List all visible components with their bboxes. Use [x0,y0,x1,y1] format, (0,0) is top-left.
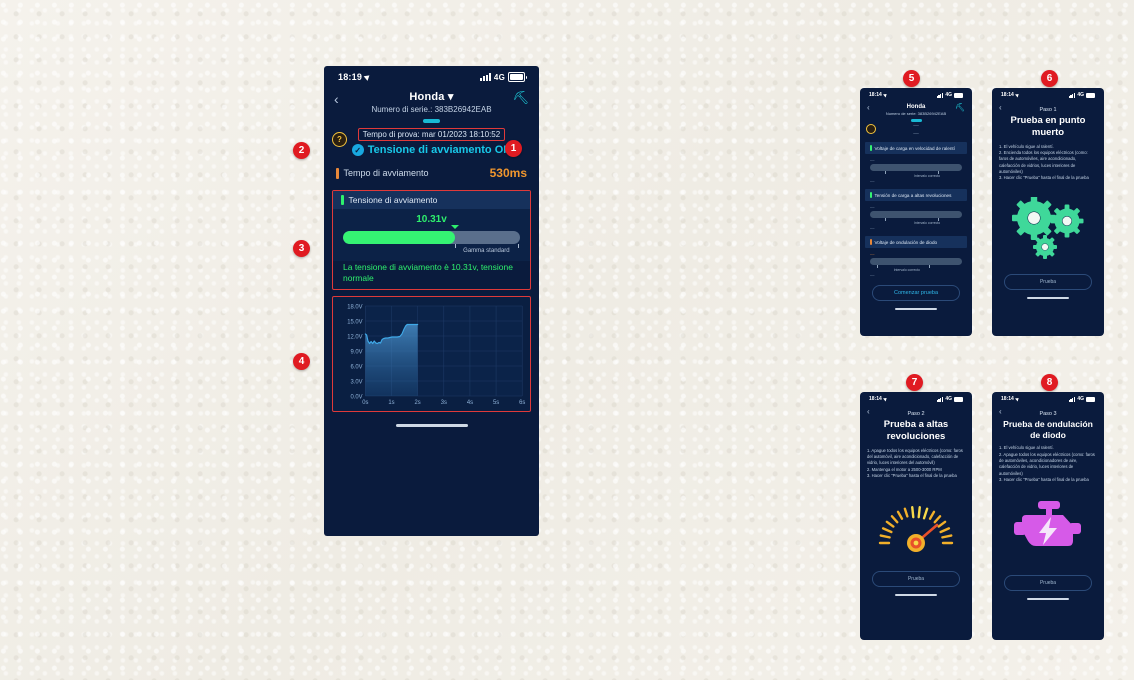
app-header: ‹ ⛏ Honda ▾ Numero di serie.: 383B26942E… [324,88,539,123]
marker-2: 2 [293,142,310,159]
svg-text:2s: 2s [415,400,421,406]
section-idle-voltage: Voltaje de carga en velocidad de ralentí… [865,142,967,185]
step-header: ‹ Paso 1 [992,102,1104,113]
green-accent-bar [341,195,344,205]
svg-text:0s: 0s [362,400,368,406]
status-time: 18:14 [1001,396,1014,402]
marker-1: 1 [505,140,522,157]
svg-text:6s: 6s [519,400,525,406]
range-label: Gamma standard [463,248,509,254]
signal-bars-icon [937,397,944,402]
marker-6: 6 [1041,70,1058,87]
chevron-down-icon: ▾ [448,91,454,103]
status-bar: 18:14 4G [992,392,1104,406]
voltage-chart: 0.0V3.0V6.0V9.0V12.0V15.0V18.0V0s1s2s3s4… [337,301,526,409]
engine-icon [992,483,1104,575]
orange-accent-bar [336,168,339,179]
section-diode-ripple: Voltaje de ondulación de diodo ‒‒ Interv… [865,236,967,279]
svg-text:4s: 4s [467,400,473,406]
test-button[interactable]: Prueba [872,571,960,587]
main-phone-screen: 18:19 4G ‹ ⛏ Honda ▾ Numero di serie.: 3… [324,66,539,536]
signal-bars-icon [480,73,491,81]
network-label: 4G [494,73,505,82]
range-bar [870,258,962,265]
start-time-value: 530ms [490,166,527,180]
gears-icon [992,182,1104,274]
range-ticks: Intervalo correcto [870,171,962,178]
step-header: ‹ Paso 2 [860,406,972,417]
bluetooth-icon[interactable]: ⛏ [512,91,529,104]
value-placeholder: ‒‒ [870,251,962,256]
status-time: 18:14 [1001,92,1014,98]
battery-icon [954,397,963,402]
test-button[interactable]: Prueba [1004,575,1092,591]
voltage-value: 10.31v [343,214,520,225]
location-arrow-icon [1015,93,1020,98]
range-label: Intervalo correcto [914,221,940,225]
small-phone-results: 18:14 4G ‹ ⛏ Honda Numero de serie: 383B… [860,88,972,336]
step-label: Paso 1 [992,107,1104,113]
status-time: 18:14 [869,396,882,402]
home-indicator [895,308,937,310]
orange-accent-bar [870,239,872,245]
battery-icon [1086,397,1095,402]
back-icon[interactable]: ‹ [334,92,339,106]
help-icon[interactable] [866,124,876,134]
tachometer-illustration [875,497,957,553]
section-header: Voltaje de carga en velocidad de ralentí [865,142,967,154]
step-label: Paso 2 [860,411,972,417]
value-placeholder: ‒‒ [870,272,962,277]
home-indicator [1027,598,1069,600]
status-bar: 18:14 4G [860,392,972,406]
green-accent-bar [870,145,872,151]
voltage-bar-track [343,231,520,244]
tachometer-icon [860,479,972,571]
voltage-range-ticks: Gamma standard [343,244,520,255]
placeholder-lines: ‒‒‒‒ [860,122,972,138]
drag-handle[interactable] [423,119,440,123]
svg-text:9.0V: 9.0V [350,349,362,355]
svg-text:3s: 3s [441,400,447,406]
start-time-label: Tempo di avviamento [344,168,429,178]
voltage-pointer-icon [451,225,459,229]
voltage-verdict: La tensione di avviamento è 10.31v, tens… [333,261,530,289]
section-title: Voltaje de carga en velocidad de ralentí [875,146,955,151]
network-label: 4G [945,92,952,98]
range-label: Intervalo correcto [914,174,940,178]
svg-text:18.0V: 18.0V [347,304,362,310]
back-icon[interactable]: ‹ [999,103,1002,112]
help-icon[interactable]: ? [332,132,347,147]
marker-7: 7 [906,374,923,391]
step-instructions: 1. El vehículo sigue al ralentí. 2. Enci… [992,139,1104,182]
step-heading: Prueba de ondulación de diodo [992,419,1104,440]
value-placeholder: ‒‒ [870,204,962,209]
status-badge: ✓ Tensione di avviamento OK [334,144,529,156]
engine-illustration [1011,499,1085,559]
section-body: ‒‒ Intervalo correcto ‒‒ [865,248,967,279]
test-button[interactable]: Prueba [1004,274,1092,290]
marker-8: 8 [1041,374,1058,391]
home-indicator [1027,297,1069,299]
green-accent-bar [870,192,872,198]
value-placeholder: ‒‒ [870,225,962,230]
section-title: Voltaje de ondulación de diodo [875,240,938,245]
voltage-card-title: Tensione di avviamento [349,195,438,205]
step-heading: Prueba a altas revoluciones [860,419,972,443]
location-arrow-icon [364,73,372,81]
range-bar [870,164,962,171]
location-arrow-icon [1015,397,1020,402]
page-title[interactable]: Honda ▾ [334,90,529,103]
small-phone-paso-2: 18:14 4G ‹ Paso 2 Prueba a altas revoluc… [860,392,972,640]
bluetooth-icon[interactable]: ⛏ [955,103,965,112]
location-arrow-icon [883,397,888,402]
serial-number: Numero di serie.: 383B26942EAB [334,105,529,114]
step-heading: Prueba en punto muerto [992,115,1104,139]
test-time-label: Tempo di prova: mar 01/2023 18:10:52 [358,128,505,141]
battery-icon [1086,93,1095,98]
marker-5: 5 [903,70,920,87]
voltage-chart-card: 0.0V3.0V6.0V9.0V12.0V15.0V18.0V0s1s2s3s4… [332,296,531,412]
range-bar [870,211,962,218]
app-header: ‹ ⛏ Honda Numero de serie: 383B26942EAB … [860,102,972,138]
battery-icon [508,72,525,82]
home-indicator [396,424,468,427]
start-time-row: Tempo di avviamento 530ms [336,166,527,180]
status-bar: 18:14 4G [992,88,1104,102]
signal-bars-icon [1069,93,1076,98]
range-ticks: Intervalo correcto [870,218,962,225]
voltage-card-body: 10.31v Gamma standard [333,209,530,261]
svg-text:6.0V: 6.0V [350,364,362,370]
small-phone-paso-1: 18:14 4G ‹ Paso 1 Prueba en punto muerto… [992,88,1104,336]
back-icon[interactable]: ‹ [999,407,1002,416]
section-title: Tensión de carga a altas revoluciones [875,193,952,198]
status-bar: 18:14 4G [860,88,972,102]
range-ticks: Intervalo correcto [870,265,962,272]
section-body: ‒‒ Intervalo correcto ‒‒ [865,154,967,185]
signal-bars-icon [1069,397,1076,402]
section-header: Tensión de carga a altas revoluciones [865,189,967,201]
svg-text:12.0V: 12.0V [347,334,362,340]
location-arrow-icon [883,93,888,98]
battery-icon [954,93,963,98]
step-label: Paso 3 [992,411,1104,417]
step-instructions: 1. Apague todos los equipos eléctricos (… [860,443,972,479]
signal-bars-icon [937,93,944,98]
voltage-bar-fill [343,231,455,244]
check-circle-icon: ✓ [352,144,364,156]
svg-text:0.0V: 0.0V [350,394,362,400]
status-bar: 18:19 4G [324,66,539,88]
svg-text:5s: 5s [493,400,499,406]
voltage-card-header: Tensione di avviamento [333,191,530,209]
svg-text:3.0V: 3.0V [350,379,362,385]
range-label: Intervalo correcto [894,268,920,272]
svg-text:1s: 1s [388,400,394,406]
section-high-rpm-voltage: Tensión de carga a altas revoluciones ‒‒… [865,189,967,232]
section-header: Voltaje de ondulación de diodo [865,236,967,248]
value-placeholder: ‒‒ [870,178,962,183]
section-body: ‒‒ Intervalo correcto ‒‒ [865,201,967,232]
back-icon[interactable]: ‹ [867,103,870,112]
network-label: 4G [1077,396,1084,402]
gears-illustration [1011,197,1085,259]
marker-4: 4 [293,353,310,370]
small-phone-paso-3: 18:14 4G ‹ Paso 3 Prueba de ondulación d… [992,392,1104,640]
home-indicator [895,594,937,596]
svg-text:15.0V: 15.0V [347,319,362,325]
start-test-button[interactable]: Comenzar prueba [872,285,960,301]
marker-3: 3 [293,240,310,257]
voltage-card: Tensione di avviamento 10.31v Gamma stan… [332,190,531,290]
status-text: Tensione di avviamento OK [368,144,511,156]
step-header: ‹ Paso 3 [992,406,1104,417]
network-label: 4G [945,396,952,402]
status-time: 18:19 [338,72,362,82]
value-placeholder: ‒‒ [870,157,962,162]
network-label: 4G [1077,92,1084,98]
back-icon[interactable]: ‹ [867,407,870,416]
status-time: 18:14 [869,92,882,98]
step-instructions: 1. El vehículo sigue al ralentí. 2. Apag… [992,440,1104,483]
